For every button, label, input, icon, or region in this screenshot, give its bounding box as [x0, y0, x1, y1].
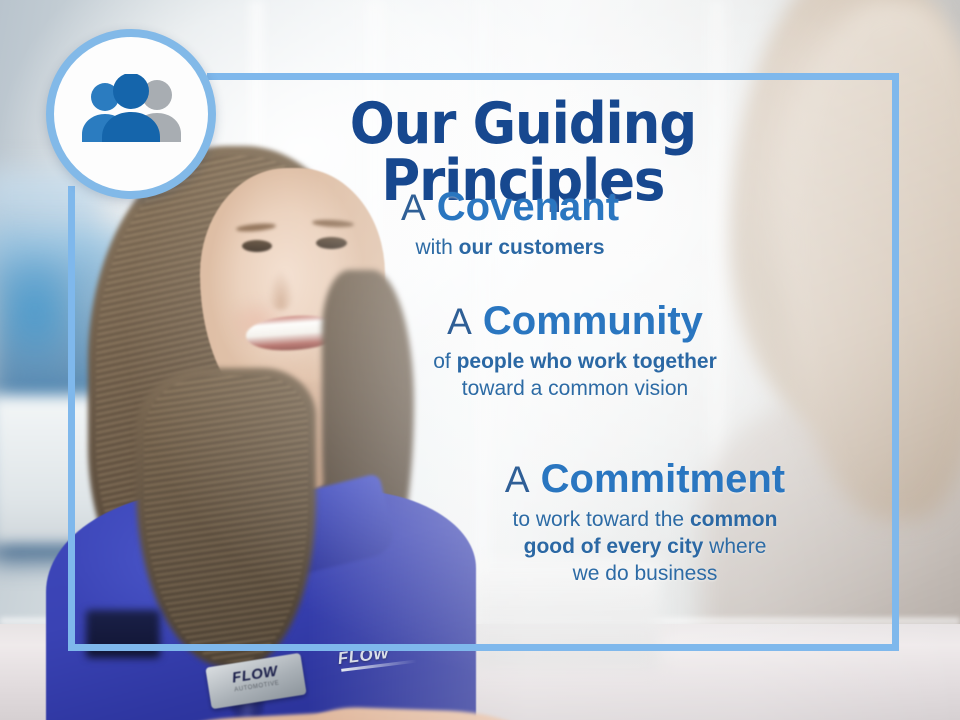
- people-group-icon: [75, 74, 187, 154]
- background-dark-object: [86, 610, 160, 658]
- description-line: with our customers: [300, 235, 720, 262]
- principle-article: A: [401, 187, 426, 228]
- principle-description: of people who work togethertoward a comm…: [340, 349, 810, 403]
- banner-image: FLOW AUTOMOTIVE FLOW: [0, 0, 960, 720]
- principle-description: with our customers: [300, 235, 720, 262]
- plain-text: of: [433, 350, 456, 373]
- description-line: of people who work together: [340, 349, 810, 376]
- principle-word: Community: [483, 299, 703, 343]
- principle-community: A Community of people who work togethert…: [340, 300, 810, 403]
- principle-article: A: [505, 459, 530, 500]
- plain-text: we do business: [573, 562, 718, 585]
- people-group-badge: [46, 29, 216, 199]
- description-line: toward a common vision: [340, 376, 810, 403]
- principle-description: to work toward the commongood of every c…: [400, 507, 890, 588]
- emphasis-text: people who work together: [457, 350, 717, 373]
- principle-heading: A Commitment: [400, 458, 890, 500]
- principle-word: Commitment: [541, 457, 785, 501]
- emphasis-text: common: [690, 508, 778, 531]
- employee-clasped-hands: [380, 704, 550, 720]
- principle-covenant: A Covenant with our customers: [300, 186, 720, 262]
- plain-text: where: [703, 535, 766, 558]
- plain-text: with: [415, 236, 458, 259]
- plain-text: toward a common vision: [462, 377, 688, 400]
- description-line: we do business: [400, 561, 890, 588]
- employee-eye-left: [242, 240, 272, 252]
- description-line: to work toward the common: [400, 507, 890, 534]
- employee-nose: [268, 270, 294, 310]
- description-line: good of every city where: [400, 534, 890, 561]
- principle-article: A: [447, 301, 472, 342]
- principle-word: Covenant: [437, 185, 619, 229]
- principle-commitment: A Commitment to work toward the commongo…: [400, 458, 890, 588]
- principle-heading: A Covenant: [300, 186, 720, 228]
- emphasis-text: our customers: [459, 236, 605, 259]
- principle-heading: A Community: [340, 300, 810, 342]
- emphasis-text: good of every city: [524, 535, 704, 558]
- plain-text: to work toward the: [513, 508, 690, 531]
